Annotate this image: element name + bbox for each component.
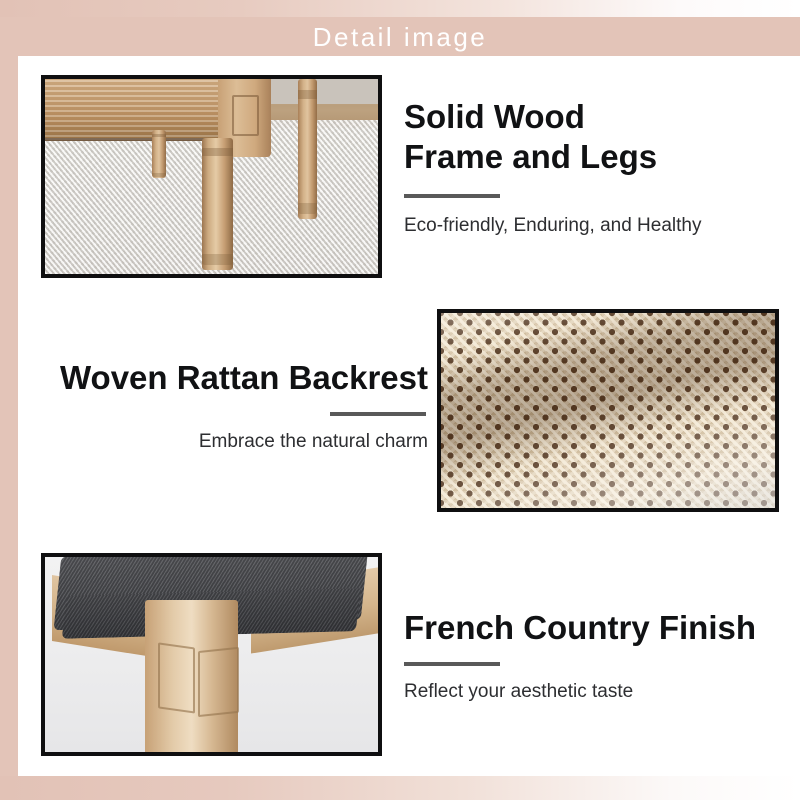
page-header-bar: Detail image [0,17,800,56]
photo-solid-wood-legs [41,75,382,278]
feature-headline-solid-wood: Solid Wood Frame and Legs [404,97,782,178]
divider-rule-french-country [404,662,500,666]
frame-top-gradient [0,0,800,18]
feature-headline-french-country: French Country Finish [404,608,782,648]
chair-leg-front [202,138,234,271]
feature-subline-solid-wood: Eco-friendly, Enduring, and Healthy [404,214,782,239]
carved-panel-left [158,642,195,714]
chair-apron [41,75,225,140]
divider-rule-solid-wood [404,194,500,198]
photo-solid-wood-legs-art [45,79,378,274]
feature-block-woven-rattan: Woven Rattan Backrest Embrace the natura… [18,358,428,455]
detail-image-page: Detail image Solid Wood Frame and Legs E… [0,0,800,800]
photo-french-country-corner-art [45,557,378,752]
divider-rule-woven-rattan [330,412,426,416]
feature-block-french-country: French Country Finish Reflect your aesth… [404,608,782,705]
page-title: Detail image [313,24,488,50]
photo-woven-rattan [437,309,779,512]
carved-panel-right [198,647,239,718]
rattan-lighting-overlay [441,313,775,508]
feature-headline-woven-rattan: Woven Rattan Backrest [18,358,428,398]
frame-left-strip [0,56,18,778]
chair-leg-back [152,130,166,179]
photo-french-country-corner [41,553,382,756]
chair-leg-right [298,79,317,219]
feature-subline-french-country: Reflect your aesthetic taste [404,680,782,705]
photo-woven-rattan-art [441,313,775,508]
frame-bottom-gradient [0,776,800,800]
feature-subline-woven-rattan: Embrace the natural charm [18,430,428,455]
feature-block-solid-wood: Solid Wood Frame and Legs Eco-friendly, … [404,97,782,238]
